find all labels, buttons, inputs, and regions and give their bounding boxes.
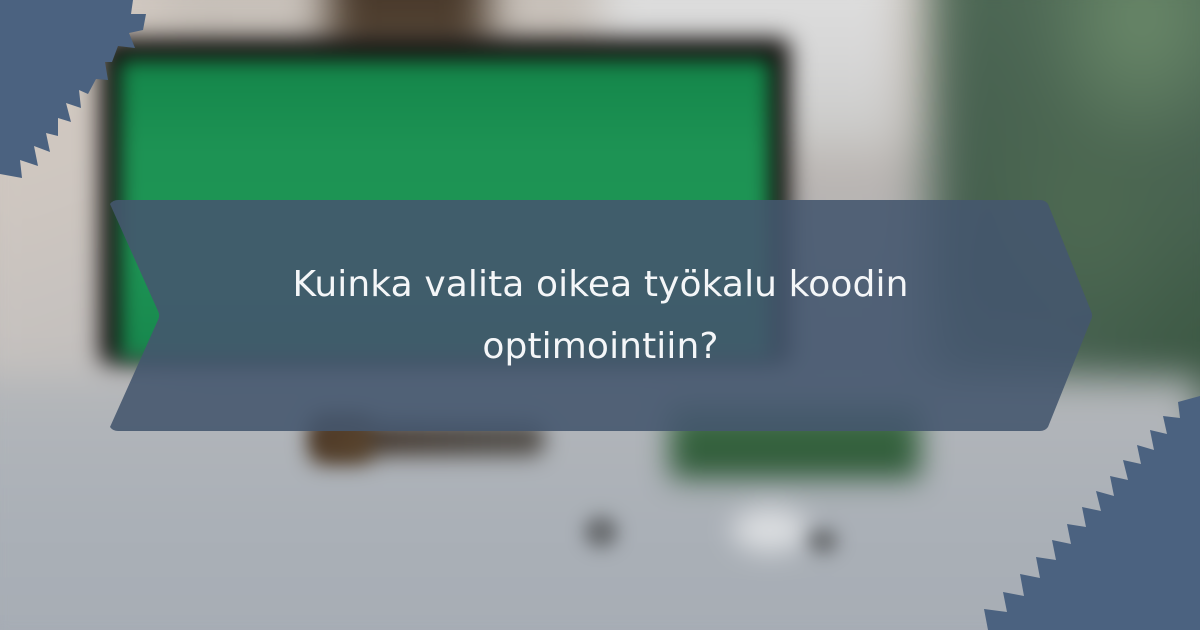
title-ribbon-banner: Kuinka valita oikea työkalu koodin optim… (108, 198, 1093, 433)
title-line-2: optimointiin? (482, 316, 718, 378)
title-line-1: Kuinka valita oikea työkalu koodin (292, 254, 908, 316)
social-card-canvas: Kuinka valita oikea työkalu koodin optim… (0, 0, 1200, 630)
banner-title: Kuinka valita oikea työkalu koodin optim… (226, 198, 975, 433)
